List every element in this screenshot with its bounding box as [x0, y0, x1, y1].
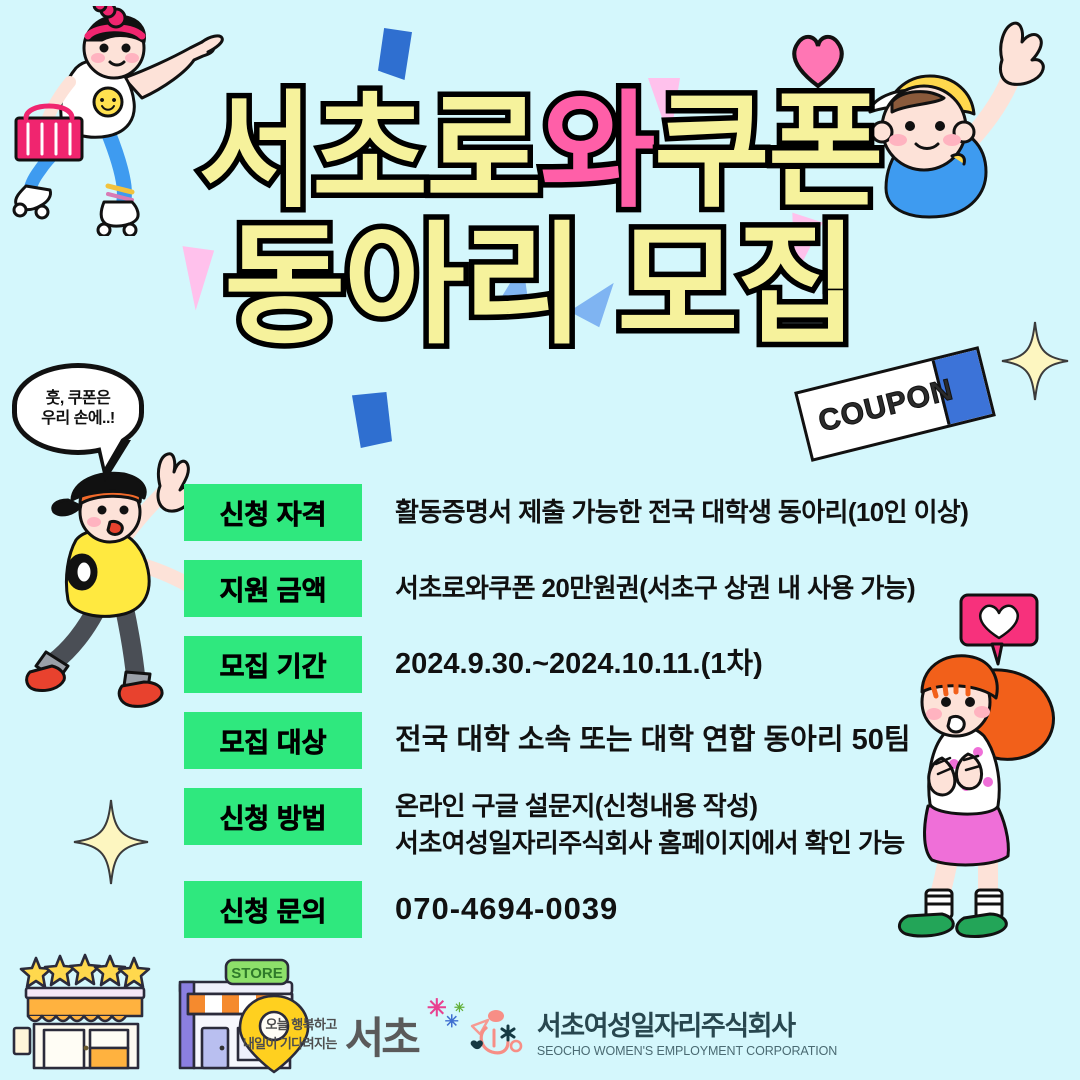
- swec-logo: 서초여성일자리주식회사 SEOCHO WOMEN'S EMPLOYMENT CO…: [464, 1008, 837, 1062]
- info-value-qualification: 활동증명서 제출 가능한 전국 대학생 동아리(10인 이상): [362, 484, 984, 541]
- confetti-pink-triangle-2: [174, 246, 214, 312]
- confetti-pink-triangle-3: [773, 213, 823, 282]
- title-part-accent: 와: [540, 81, 654, 222]
- seocho-slogan-line-1: 오늘 행복하고: [266, 1017, 337, 1032]
- info-row-contact: 신청 문의 070-4694-0039: [184, 881, 984, 938]
- seocho-gu-logo: 오늘 행복하고 내일이 기다려지는 서초 ✳ ✳ ✳: [243, 1004, 418, 1066]
- info-label-support-amount: 지원 금액: [184, 560, 362, 617]
- seocho-slogan: 오늘 행복하고 내일이 기다려지는: [243, 1016, 337, 1054]
- confetti-blue-quad: [378, 28, 412, 80]
- confetti-blue-quad-2: [352, 392, 392, 448]
- info-label-period: 모집 기간: [184, 636, 362, 693]
- asterisk-pink-icon: ✳: [427, 994, 444, 1023]
- info-value-period: 2024.9.30.~2024.10.11.(1차): [362, 636, 984, 693]
- confetti-pink-triangle: [648, 78, 680, 140]
- info-label-target: 모집 대상: [184, 712, 362, 769]
- info-row-target: 모집 대상 전국 대학 소속 또는 대학 연합 동아리 50팀: [184, 712, 984, 769]
- sparkle-icon-2: [72, 798, 150, 886]
- info-row-period: 모집 기간 2024.9.30.~2024.10.11.(1차): [184, 636, 984, 693]
- swec-mark-icon: [464, 1008, 526, 1062]
- title-part-c: 쿠폰: [654, 81, 882, 222]
- character-cap-boy: [852, 16, 1080, 256]
- confetti-blue-triangle-2: [569, 271, 621, 328]
- speech-bubble: 훗, 쿠폰은 우리 손에..!: [12, 363, 144, 455]
- info-label-qualification: 신청 자격: [184, 484, 362, 541]
- swec-name-ko: 서초여성일자리주식회사: [537, 1012, 837, 1040]
- asterisk-green-icon: ✳: [454, 1000, 462, 1016]
- footer-logos: 오늘 행복하고 내일이 기다려지는 서초 ✳ ✳ ✳: [0, 1004, 1080, 1066]
- speech-bubble-tail-inner: [98, 436, 123, 467]
- store-sign-text: STORE: [231, 965, 282, 982]
- info-row-qualification: 신청 자격 활동증명서 제출 가능한 전국 대학생 동아리(10인 이상): [184, 484, 984, 541]
- swec-name-en: SEOCHO WOMEN'S EMPLOYMENT CORPORATION: [537, 1044, 837, 1058]
- confetti-blue-triangle: [495, 261, 531, 308]
- sparkle-icon: [1000, 320, 1070, 402]
- info-value-support-amount: 서초로와쿠폰 20만원권(서초구 상권 내 사용 가능): [362, 560, 984, 617]
- info-row-how-to-apply: 신청 방법 온라인 구글 설문지(신청내용 작성) 서초여성일자리주식회사 홈페…: [184, 788, 984, 862]
- character-skater-girl: [4, 6, 244, 236]
- seocho-slogan-line-2: 내일이 기다려지는: [243, 1036, 337, 1051]
- info-value-how-to-apply: 온라인 구글 설문지(신청내용 작성) 서초여성일자리주식회사 홈페이지에서 확…: [362, 788, 984, 862]
- title-part-a: 서초로: [198, 81, 540, 222]
- coupon-label: COUPON: [815, 373, 957, 439]
- poster-canvas: STORE 서초로와쿠폰 동아리 모집 훗, 쿠폰은 우리 손에..! COUP…: [0, 0, 1080, 1080]
- info-row-support-amount: 지원 금액 서초로와쿠폰 20만원권(서초구 상권 내 사용 가능): [184, 560, 984, 617]
- coupon-ticket: COUPON: [794, 346, 996, 462]
- speech-line-2: 우리 손에..!: [41, 410, 115, 427]
- seocho-wordmark: 서초 ✳ ✳ ✳: [345, 1004, 418, 1066]
- info-value-target: 전국 대학 소속 또는 대학 연합 동아리 50팀: [362, 712, 984, 769]
- info-label-contact: 신청 문의: [184, 881, 362, 938]
- speech-line-1: 훗, 쿠폰은: [46, 390, 111, 407]
- info-table: 신청 자격 활동증명서 제출 가능한 전국 대학생 동아리(10인 이상) 지원…: [184, 484, 984, 957]
- info-label-how-to-apply: 신청 방법: [184, 788, 362, 845]
- info-value-contact: 070-4694-0039: [362, 881, 984, 938]
- heart-icon: [786, 30, 850, 90]
